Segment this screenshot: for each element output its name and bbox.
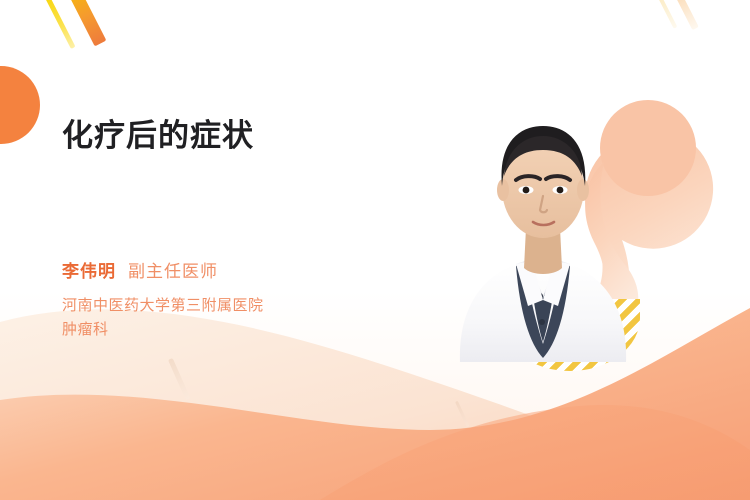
- doctor-affiliation: 河南中医药大学第三附属医院 肿瘤科: [62, 294, 402, 341]
- doctor-hospital: 河南中医药大学第三附属医院: [62, 294, 402, 317]
- page-title: 化疗后的症状: [62, 118, 402, 155]
- doctor-rank: 副主任医师: [128, 262, 218, 282]
- doctor-byline: 李伟明副主任医师: [62, 261, 402, 283]
- doctor-portrait: [440, 100, 645, 362]
- doctor-info-card: 化疗后的症状 李伟明副主任医师 河南中医药大学第三附属医院 肿瘤科: [0, 0, 750, 500]
- doctor-photo-illustration: [440, 100, 645, 362]
- doctor-name: 李伟明: [62, 262, 116, 282]
- text-content: 化疗后的症状 李伟明副主任医师 河南中医药大学第三附属医院 肿瘤科: [62, 118, 402, 341]
- doctor-department: 肿瘤科: [62, 318, 402, 341]
